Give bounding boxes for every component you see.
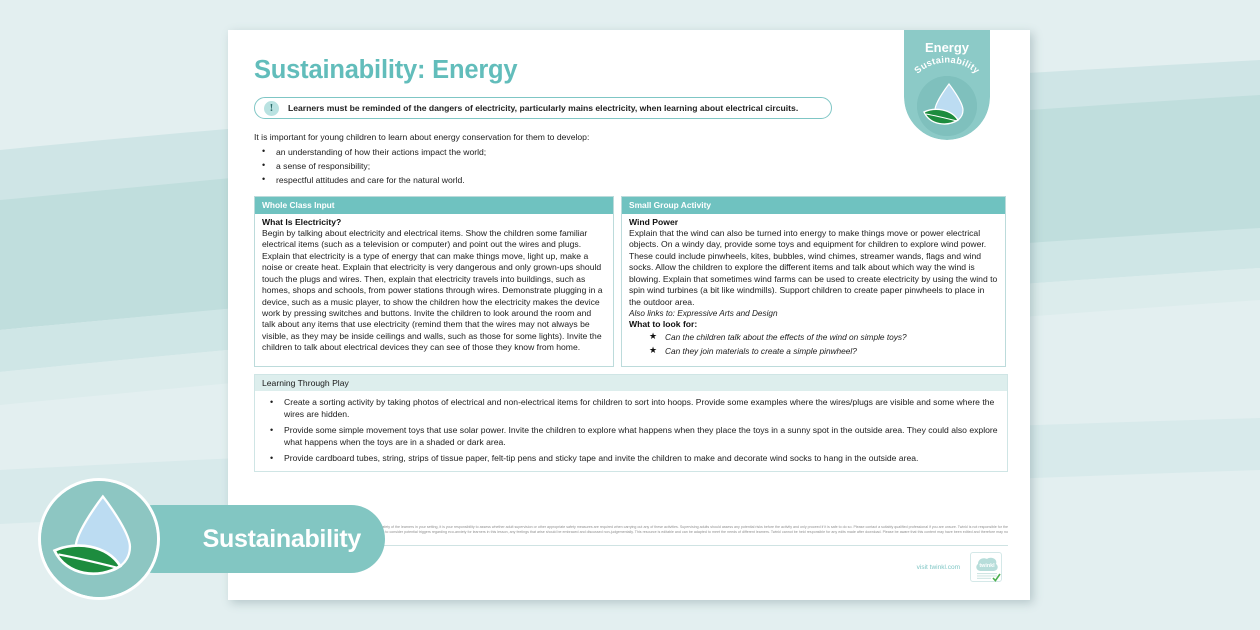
safety-warning-banner: ! Learners must be reminded of the dange… (254, 97, 832, 119)
whole-class-input-body: What Is Electricity? Begin by talking ab… (255, 214, 613, 360)
whole-class-input-header: Whole Class Input (255, 197, 613, 214)
svg-text:Sustainability: Sustainability (912, 55, 982, 76)
twinkl-logo-badge: twinkl (970, 552, 1002, 582)
list-item: Provide cardboard tubes, string, strips … (262, 453, 1000, 465)
learning-through-play-list: Create a sorting activity by taking phot… (262, 397, 1000, 465)
whole-class-subtitle: What Is Electricity? (262, 217, 606, 227)
list-item: respectful attitudes and care for the na… (254, 175, 1008, 185)
safety-warning-text: Learners must be reminded of the dangers… (288, 103, 798, 113)
also-links-to: Also links to: Expressive Arts and Desig… (629, 309, 998, 318)
energy-badge-title: Energy (904, 40, 990, 55)
small-group-activity-header: Small Group Activity (622, 197, 1005, 214)
list-item: Provide some simple movement toys that u… (262, 425, 1000, 448)
intro-list: an understanding of how their actions im… (254, 147, 1008, 185)
small-group-paragraph: Explain that the wind can also be turned… (629, 228, 998, 308)
droplet-leaf-icon (917, 76, 977, 136)
small-group-subtitle: Wind Power (629, 217, 998, 227)
list-item: Can the children talk about the effects … (629, 332, 998, 342)
whole-class-paragraph: Begin by talking about electricity and e… (262, 228, 606, 354)
small-group-activity-body: Wind Power Explain that the wind can als… (622, 214, 1005, 366)
what-to-look-for-label: What to look for: (629, 319, 998, 329)
learning-through-play-header: Learning Through Play (255, 375, 1007, 391)
visit-twinkl-link[interactable]: visit twinkl.com (917, 564, 960, 571)
screenshot-root: Sustainability: Energy ! Learners must b… (0, 0, 1260, 630)
learning-through-play-body: Create a sorting activity by taking phot… (255, 391, 1007, 471)
exclamation-icon: ! (264, 101, 279, 116)
energy-subject-badge: Energy Sustainability (904, 30, 990, 140)
whole-class-input-panel: Whole Class Input What Is Electricity? B… (254, 196, 614, 367)
sustainability-brand-label: Sustainability (203, 525, 361, 554)
droplet-leaf-icon (41, 481, 157, 597)
sustainability-logo-circle (38, 478, 160, 600)
svg-text:twinkl: twinkl (979, 563, 995, 569)
list-item: a sense of responsibility; (254, 161, 1008, 171)
what-to-look-for-list: Can the children talk about the effects … (629, 332, 998, 356)
activity-columns: Whole Class Input What Is Electricity? B… (254, 196, 1008, 367)
list-item: Can they join materials to create a simp… (629, 346, 998, 356)
learning-through-play-panel: Learning Through Play Create a sorting a… (254, 374, 1008, 472)
list-item: Create a sorting activity by taking phot… (262, 397, 1000, 420)
small-group-activity-panel: Small Group Activity Wind Power Explain … (621, 196, 1006, 367)
list-item: an understanding of how their actions im… (254, 147, 1008, 157)
page-title: Sustainability: Energy (254, 56, 1008, 84)
intro-lead: It is important for young children to le… (254, 132, 1008, 142)
